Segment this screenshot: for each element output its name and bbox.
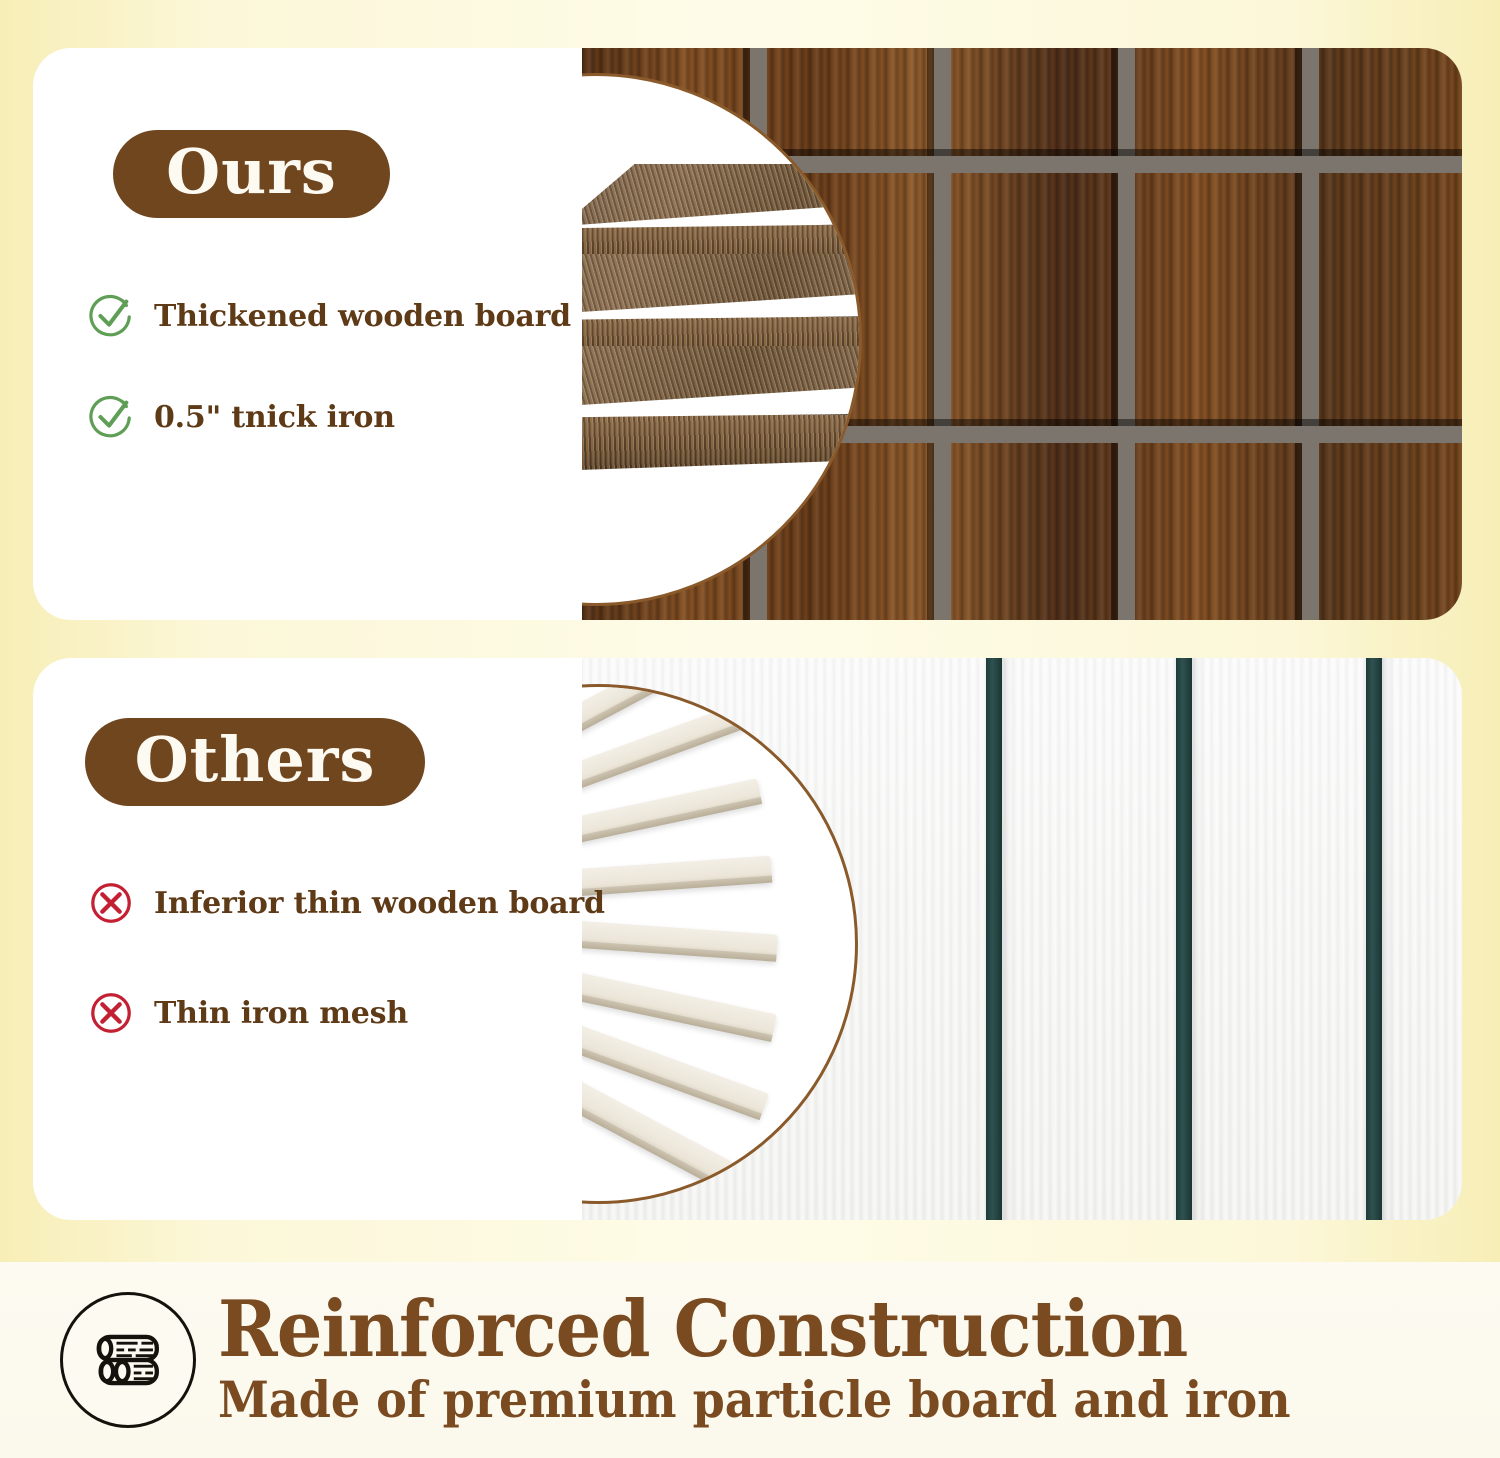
comparison-card-others (33, 658, 1462, 1220)
bottom-banner: Reinforced Construction Made of premium … (0, 1262, 1500, 1458)
banner-subhead: Made of premium particle board and iron (218, 1372, 1291, 1427)
iron-bar (1176, 658, 1192, 1220)
comparison-stage: Ours Thickened wooden board 0.5" tnick i… (0, 0, 1500, 1262)
card-left-ours (33, 48, 653, 620)
photo-others (582, 658, 1462, 1220)
card-left-others (33, 658, 653, 1220)
stacked-logs-icon (60, 1292, 196, 1428)
comparison-card-ours (33, 48, 1462, 620)
photo-ours (582, 48, 1462, 620)
banner-text: Reinforced Construction Made of premium … (218, 1293, 1384, 1427)
iron-bar (986, 658, 1002, 1220)
banner-headline: Reinforced Construction (218, 1293, 1291, 1366)
iron-bar (1366, 658, 1382, 1220)
